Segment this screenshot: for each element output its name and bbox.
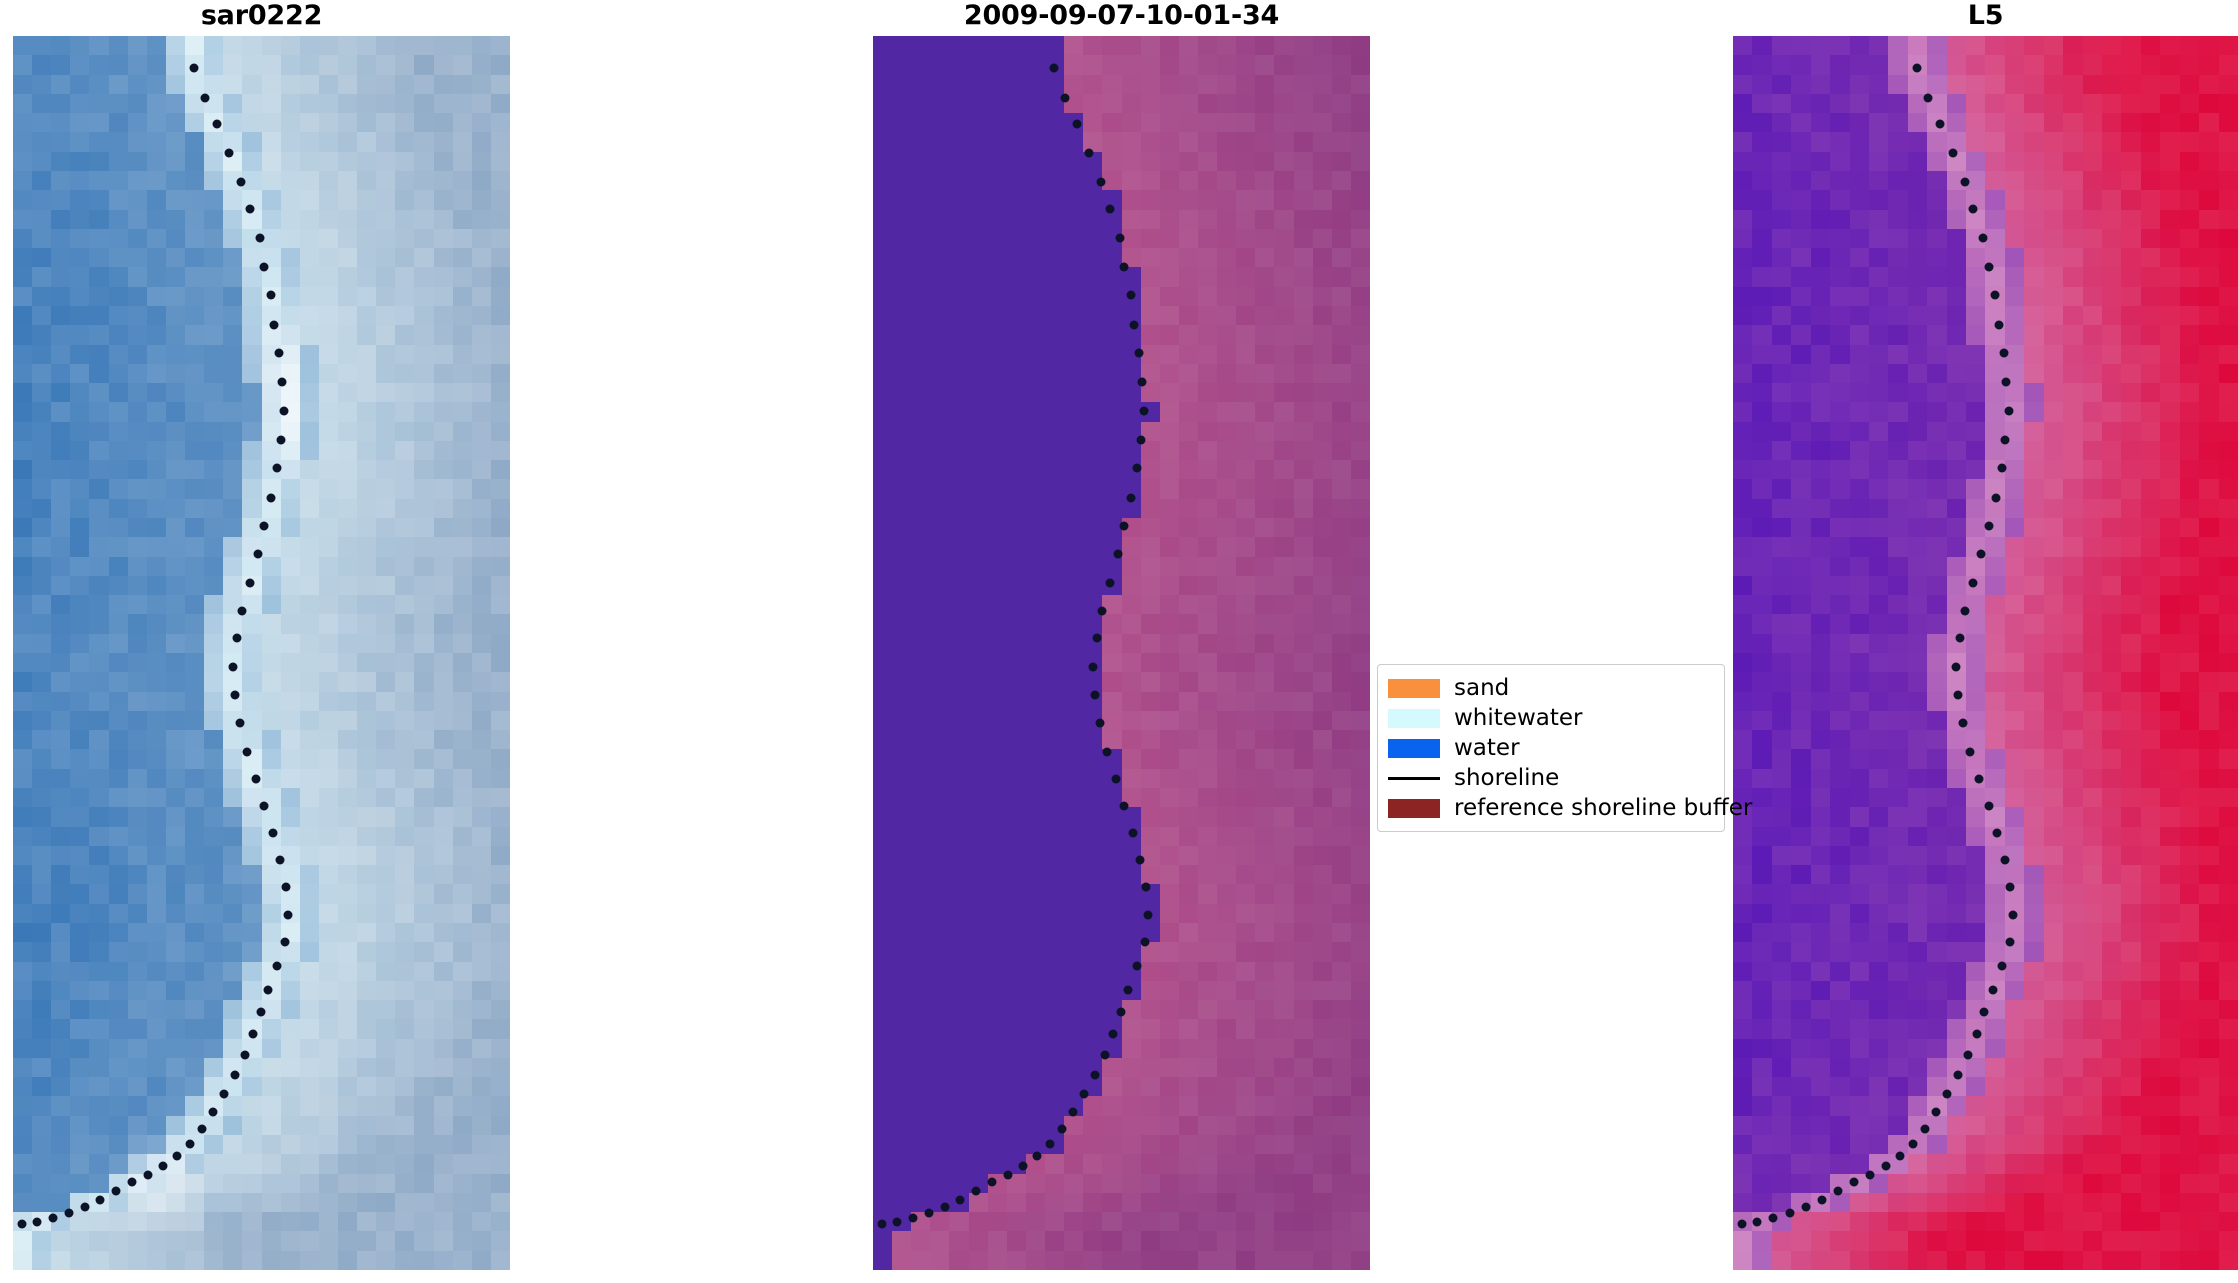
sar-pixel-grid [13, 36, 510, 1270]
legend-label-sand: sand [1454, 675, 1509, 701]
panel-l5: L5 [1733, 0, 2238, 1270]
panel-title-date: 2009-09-07-10-01-34 [873, 0, 1370, 32]
legend-swatch-reference-buffer-icon [1388, 799, 1440, 818]
legend-item-reference-buffer: reference shoreline buffer [1388, 793, 1714, 823]
legend-item-water: water [1388, 733, 1714, 763]
l5-pixel-grid [1733, 36, 2238, 1270]
panel-classification: 2009-09-07-10-01-34 [873, 0, 1370, 1270]
legend-item-sand: sand [1388, 673, 1714, 703]
legend-swatch-whitewater-icon [1388, 709, 1440, 728]
legend-swatch-water-icon [1388, 739, 1440, 758]
legend-label-water: water [1454, 735, 1520, 761]
l5-image [1733, 36, 2238, 1270]
figure-canvas: sar0222 2009-09-07-10-01-34 L5 sand whit… [0, 0, 2238, 1283]
panel-title-l5: L5 [1733, 0, 2238, 32]
legend-item-whitewater: whitewater [1388, 703, 1714, 733]
legend-label-reference-buffer: reference shoreline buffer [1454, 795, 1752, 821]
sar-image [13, 36, 510, 1270]
legend-swatch-sand-icon [1388, 679, 1440, 698]
legend-line-shoreline-icon [1388, 769, 1440, 788]
classification-image [873, 36, 1370, 1270]
classification-pixel-grid [873, 36, 1370, 1270]
legend: sand whitewater water shoreline referenc… [1377, 664, 1725, 832]
legend-item-shoreline: shoreline [1388, 763, 1714, 793]
legend-label-shoreline: shoreline [1454, 765, 1559, 791]
panel-sar0222: sar0222 [13, 0, 510, 1270]
legend-label-whitewater: whitewater [1454, 705, 1582, 731]
panel-title-sar: sar0222 [13, 0, 510, 32]
